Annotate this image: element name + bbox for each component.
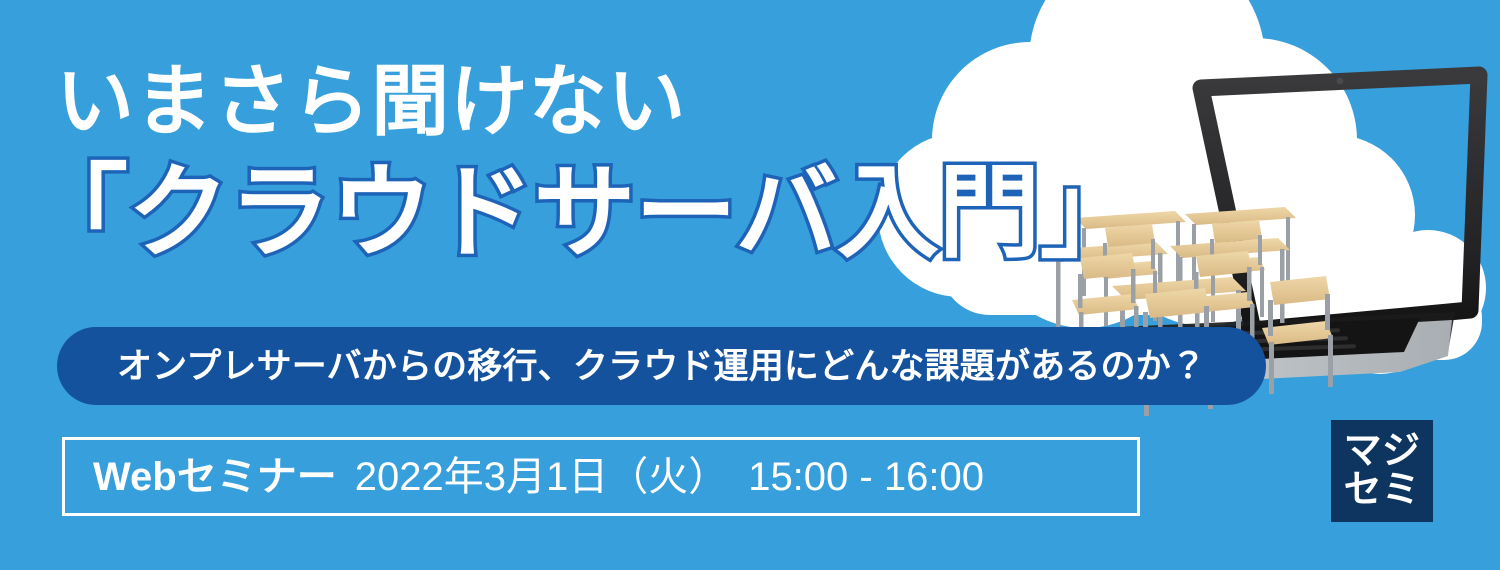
laptop-open-icon [1201,75,1479,330]
laptop-bezel [1201,75,1479,330]
seminar-type-label: Webセミナー [93,457,337,497]
majisemi-logo: マジ セミ [1331,420,1433,522]
schedule-inner: Webセミナー 2022年3月1日（火） 15:00 - 16:00 [65,457,984,497]
laptop-webcam-icon [1337,78,1344,85]
logo-line-1: マジ [1344,432,1421,471]
webinar-banner: いまさら聞けない 「クラウドサーバ入門」 オンプレサーバからの移行、クラウド運用… [0,0,1500,570]
page-title: 「クラウドサーバ入門」 [26,162,1141,264]
seminar-datetime: 2022年3月1日（火） 15:00 - 16:00 [355,457,984,497]
schedule-box: Webセミナー 2022年3月1日（火） 15:00 - 16:00 [62,437,1140,516]
subtitle-text: オンプレサーバからの移行、クラウド運用にどんな課題があるのか？ [117,349,1206,384]
logo-line-2: セミ [1344,471,1421,510]
cloud-small-icon [1250,196,1486,374]
subtitle-bar: オンプレサーバからの移行、クラウド運用にどんな課題があるのか？ [57,327,1266,405]
banner-kicker: いまさら聞けない [56,62,686,140]
